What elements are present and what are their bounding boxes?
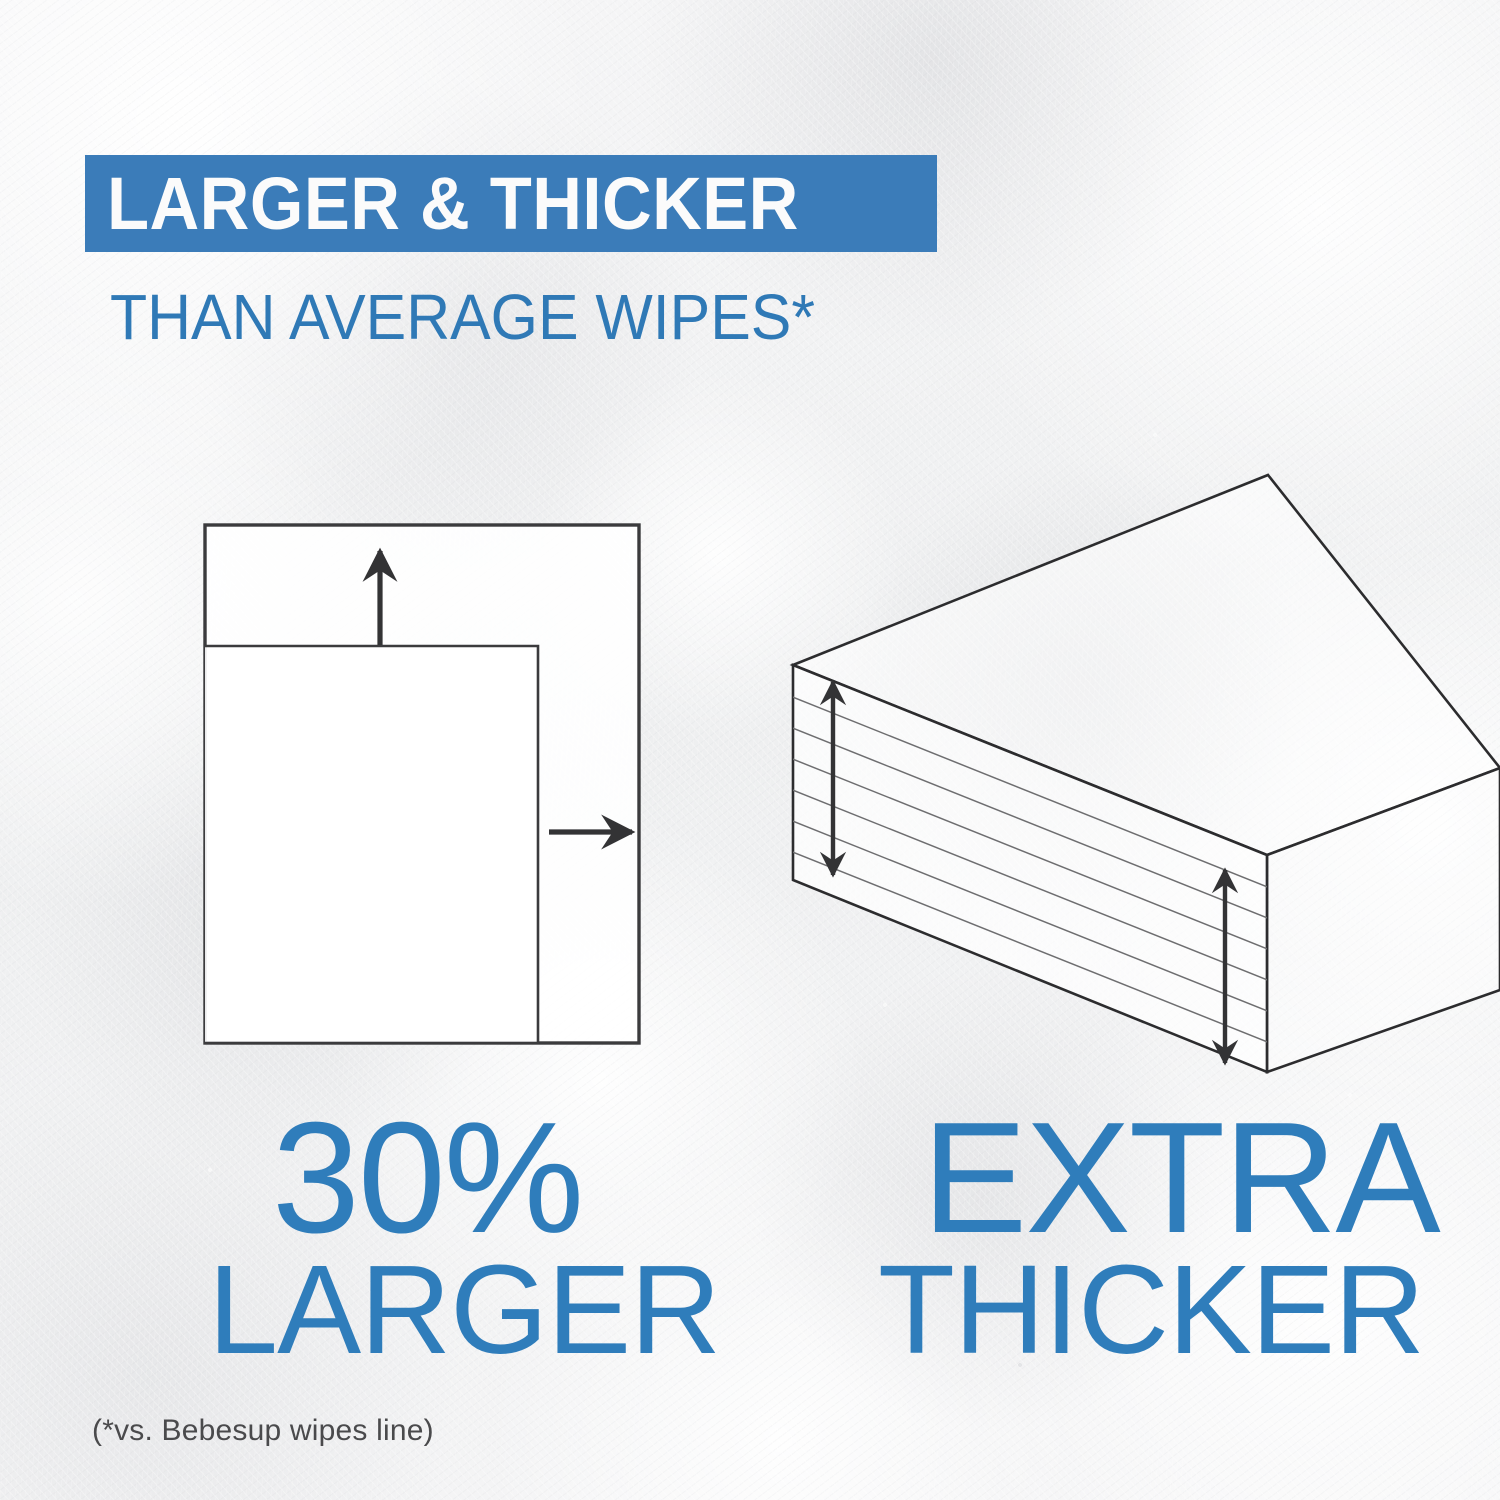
- callout-larger-value: 30%: [272, 1103, 582, 1253]
- callout-thicker-value: EXTRA: [922, 1103, 1439, 1253]
- headline-banner: LARGER & THICKER: [85, 155, 937, 252]
- footnote-label: (*vs. Bebesup wipes line): [92, 1414, 434, 1448]
- infographic-canvas: LARGER & THICKER THAN AVERAGE WIPES*: [0, 0, 1500, 1500]
- callout-thicker-word: THICKER: [878, 1250, 1424, 1370]
- headline-label: LARGER & THICKER: [107, 167, 799, 241]
- callout-larger-word: LARGER: [208, 1250, 720, 1370]
- size-comparison-svg: [190, 505, 660, 1065]
- stack-thickness-svg: [770, 450, 1500, 1090]
- average-wipe-outline: [205, 646, 538, 1043]
- wipe-stack-thickness-diagram: [770, 450, 1500, 1090]
- subtitle-label: THAN AVERAGE WIPES*: [110, 285, 815, 349]
- wipe-size-comparison-diagram: [190, 505, 660, 1065]
